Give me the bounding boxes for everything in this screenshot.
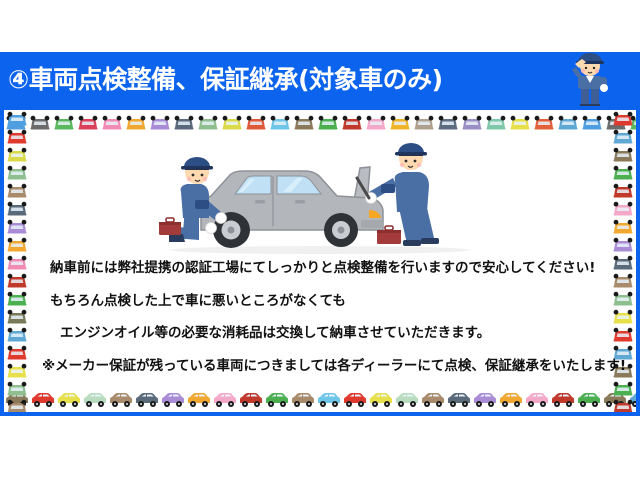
border-car-icon [6,201,28,217]
border-car-icon [293,115,315,131]
border-car-icon [6,399,28,412]
border-car-icon [612,273,634,289]
border-car-icon [6,255,28,271]
body-line-2: もちろん点検した上で車に悪いところがなくても [50,295,610,309]
border-car-icon [30,391,56,408]
border-car-icon [6,291,28,307]
border-car-icon [186,391,212,408]
border-car-icon [149,115,171,131]
poster-canvas: ④車両点検整備、保証継承(対象車のみ) [0,0,640,480]
border-car-icon [342,391,368,408]
border-car-icon [461,115,483,131]
border-car-icon [108,391,134,408]
border-car-icon [365,115,387,131]
border-car-icon [6,129,28,145]
border-car-icon [6,165,28,181]
border-car-icon [446,391,472,408]
border-car-icon [612,309,634,325]
border-car-icon [413,115,435,131]
border-car-icon [612,399,634,412]
border-car-icon [6,219,28,235]
content-panel: 納車前には弊社提携の認証工場にてしっかりと点検整備を行いますので安心してください… [0,106,640,416]
border-car-icon [245,115,267,131]
border-car-icon [437,115,459,131]
saluting-mechanic-icon [562,50,618,108]
border-car-icon [612,129,634,145]
page-title: ④車両点検整備、保証継承(対象車のみ) [8,60,443,96]
border-car-icon [53,115,75,131]
border-car-icon [264,391,290,408]
border-car-icon [6,309,28,325]
border-car-icon [581,115,603,131]
border-car-icon [498,391,524,408]
border-car-icon [77,115,99,131]
border-car-icon [612,147,634,163]
border-car-icon [472,391,498,408]
border-car-icon [341,115,363,131]
border-car-icon [101,115,123,131]
border-car-icon [6,327,28,343]
body-line-1: 納車前には弊社提携の認証工場にてしっかりと点検整備を行いますので安心してください… [50,262,610,276]
body-line-4-note: ※メーカー保証が残っている車両につきましては各ディーラーにて点検、保証継承をいた… [42,360,610,374]
border-car-icon [56,391,82,408]
border-car-icon [6,111,28,127]
border-car-icon [612,381,634,397]
border-car-icon [212,391,238,408]
border-car-icon [6,381,28,397]
border-car-icon [238,391,264,408]
border-car-icon [420,391,446,408]
border-car-icon [612,237,634,253]
border-car-icon [316,391,342,408]
border-car-icon [6,147,28,163]
header-banner: ④車両点検整備、保証継承(対象車のみ) [0,52,640,106]
border-car-icon [29,115,51,131]
border-car-icon [612,201,634,217]
content-panel-inner: 納車前には弊社提携の認証工場にてしっかりと点検整備を行いますので安心してください… [4,110,636,412]
border-car-icon [612,219,634,235]
border-car-icon [612,291,634,307]
border-car-icon [173,115,195,131]
border-car-icon [6,237,28,253]
border-car-icon [368,391,394,408]
border-car-icon [612,183,634,199]
border-car-icon [6,183,28,199]
border-car-icon [485,115,507,131]
border-car-icon [533,115,555,131]
border-car-icon [6,345,28,361]
border-car-icon [550,391,576,408]
border-car-icon [160,391,186,408]
border-car-icon [612,327,634,343]
border-car-icon [269,115,291,131]
border-car-icon [612,111,634,127]
border-car-icon [6,273,28,289]
border-car-icon [524,391,550,408]
border-car-icon [82,391,108,408]
border-car-icon [509,115,531,131]
border-car-icon [612,255,634,271]
border-car-icon [389,115,411,131]
border-car-icon [221,115,243,131]
border-car-icon [290,391,316,408]
border-car-icon [394,391,420,408]
border-car-icon [576,391,602,408]
border-car-icon [134,391,160,408]
border-car-icon [6,363,28,379]
border-car-icon [197,115,219,131]
car-border-top [4,110,636,136]
body-text-block: 納車前には弊社提携の認証工場にてしっかりと点検整備を行いますので安心してください… [50,262,610,392]
border-car-icon [125,115,147,131]
border-car-icon [612,165,634,181]
border-car-icon [557,115,579,131]
body-line-3: エンジンオイル等の必要な消耗品は交換して納車させていただきます。 [50,327,610,341]
border-car-icon [317,115,339,131]
car-inspection-illustration [155,134,485,256]
car-border-left [4,110,30,412]
